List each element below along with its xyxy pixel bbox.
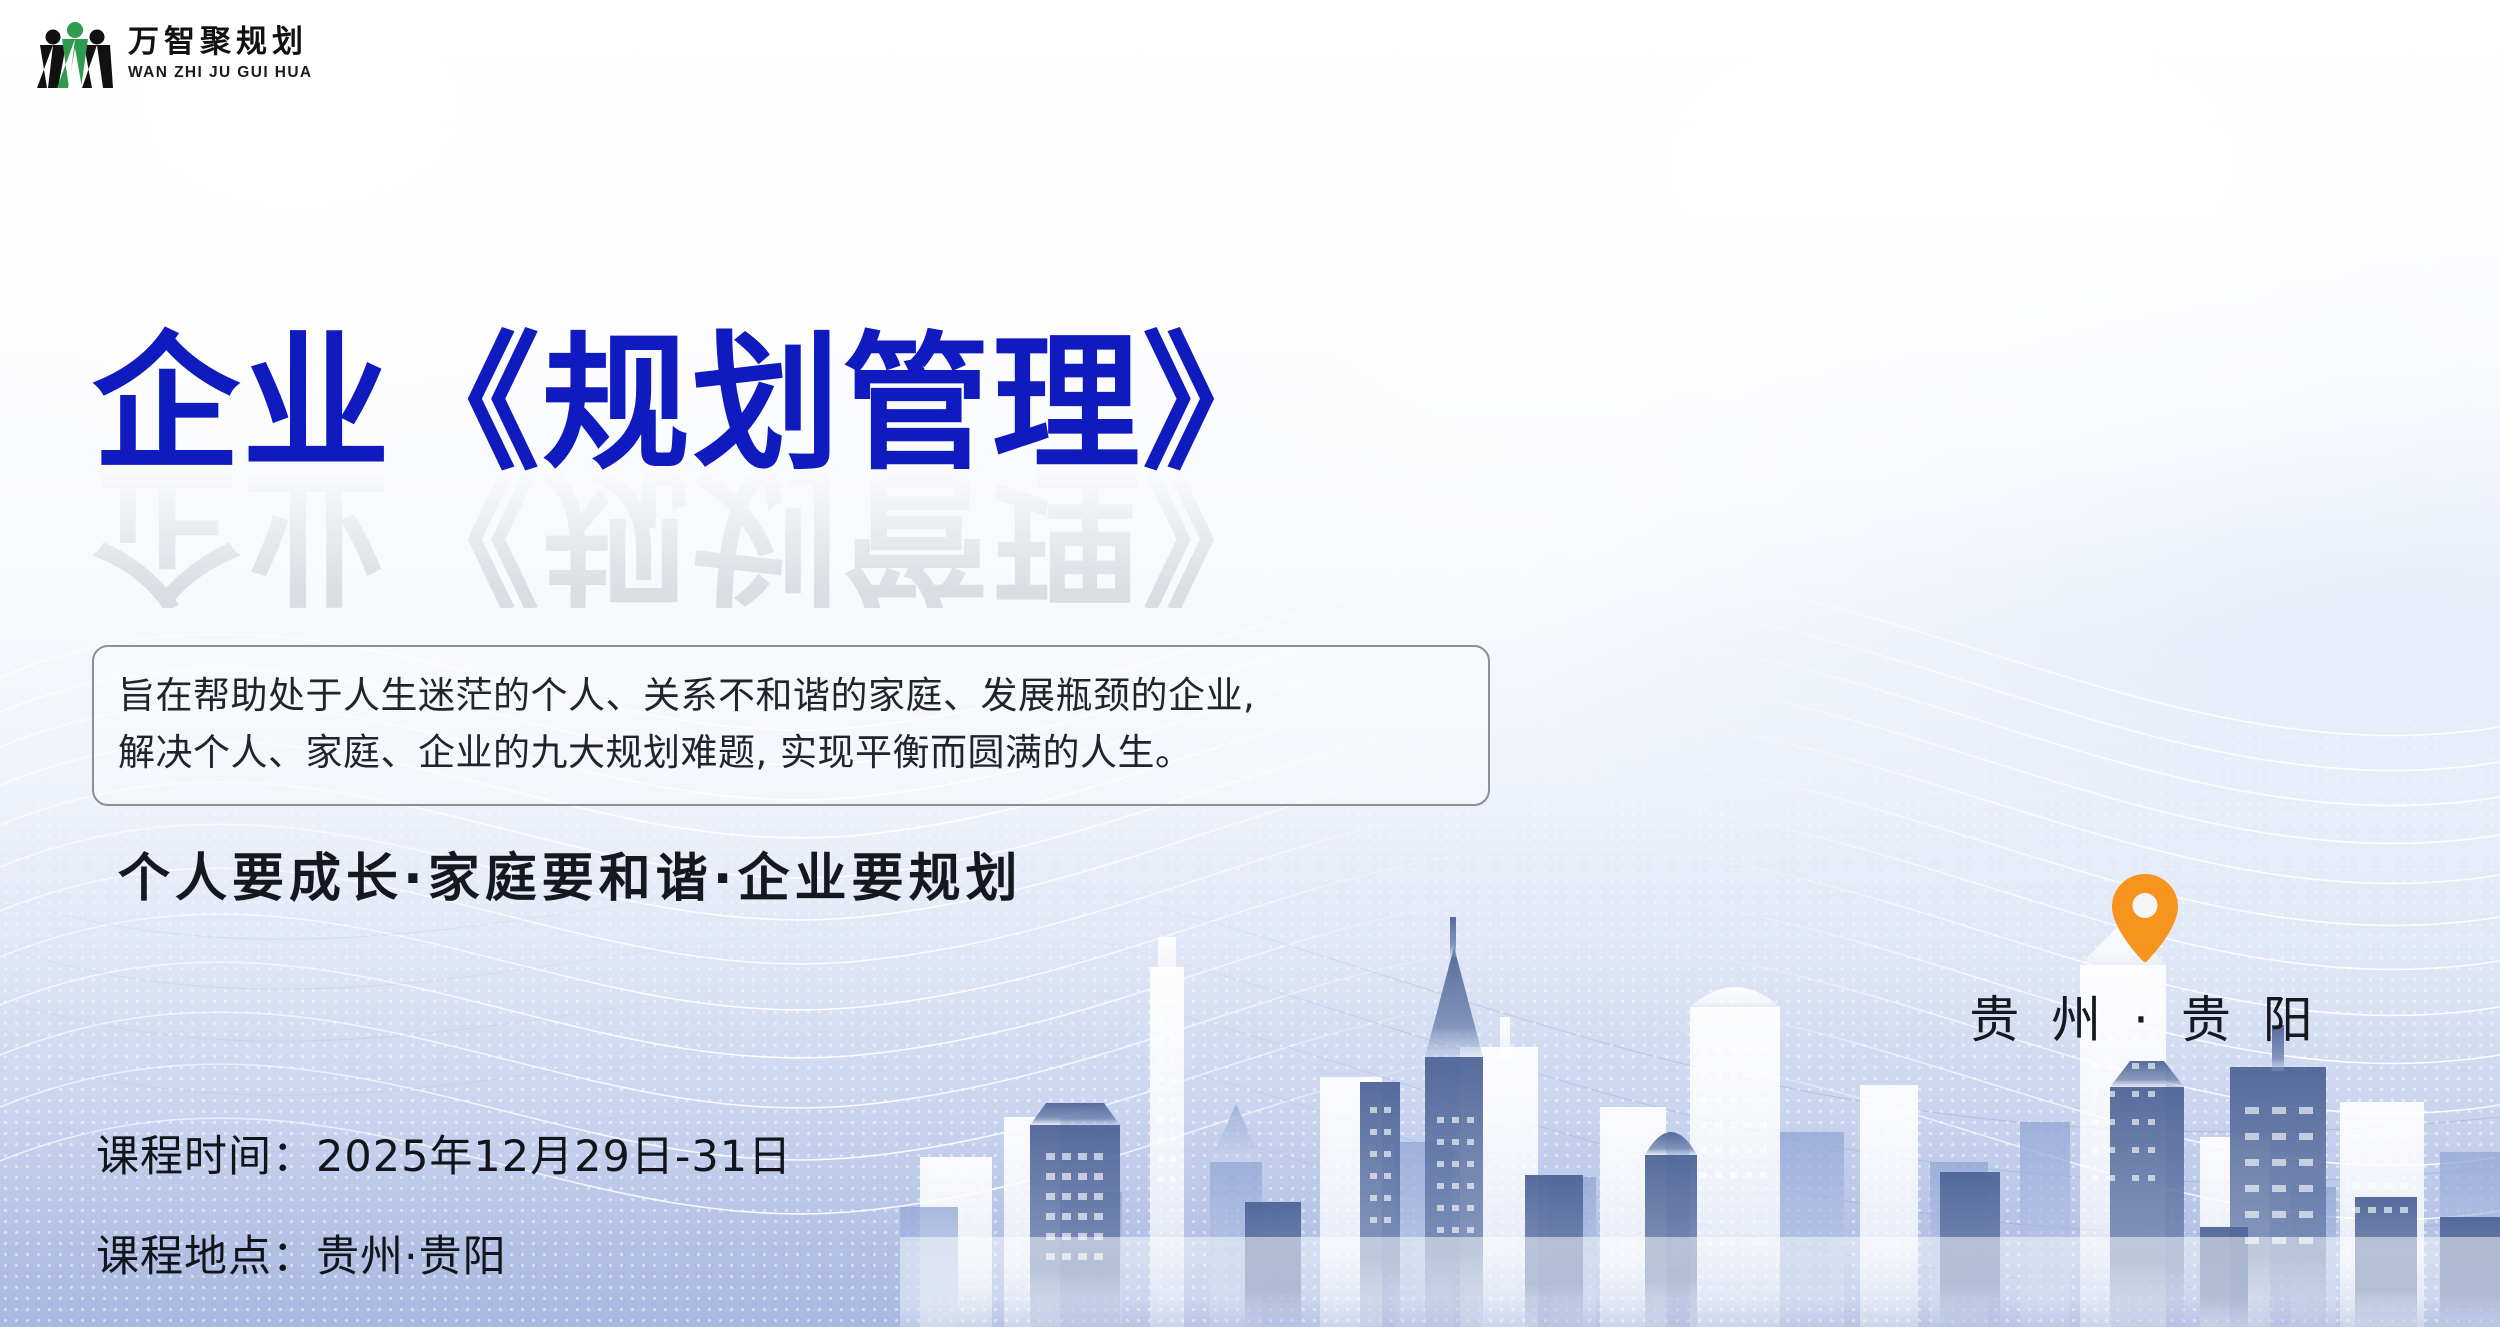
course-venue: 课程地点：贵州·贵阳: [96, 1222, 792, 1284]
brand-name-cn: 万智聚规划: [128, 27, 313, 58]
description-line-1: 旨在帮助处于人生迷茫的个人、关系不和谐的家庭、发展瓶颈的企业,: [118, 667, 1464, 724]
course-info: 课程时间：2025年12月29日-31日 课程地点：贵州·贵阳: [96, 1122, 792, 1284]
page-title: 企业《规划管理》: [92, 330, 1292, 478]
course-schedule: 课程时间：2025年12月29日-31日: [96, 1122, 792, 1184]
hero-tagline: 个人要成长·家庭要和谐·企业要规划: [118, 836, 1023, 911]
brand-name-pinyin: WAN ZHI JU GUI HUA: [128, 65, 313, 81]
brand-wordmark: 万智聚规划 WAN ZHI JU GUI HUA: [128, 27, 313, 81]
description-box: 旨在帮助处于人生迷茫的个人、关系不和谐的家庭、发展瓶颈的企业, 解决个人、家庭、…: [92, 645, 1490, 806]
three-people-logo-icon: [36, 18, 114, 90]
page-title-reflection: 企业《规划管理》: [92, 460, 1292, 608]
brand-logo: 万智聚规划 WAN ZHI JU GUI HUA: [36, 18, 313, 90]
description-line-2: 解决个人、家庭、企业的九大规划难题, 实现平衡而圆满的人生。: [118, 724, 1464, 781]
location-label: 贵 州 · 贵 阳: [1969, 980, 2320, 1052]
map-pin-icon: [2108, 872, 2182, 964]
location-block: 贵 州 · 贵 阳: [1945, 872, 2345, 1052]
hero-headline-block: 企业《规划管理》 企业《规划管理》: [92, 330, 1292, 608]
poster-canvas: 万智聚规划 WAN ZHI JU GUI HUA 企业《规划管理》 企业《规划管…: [0, 0, 2500, 1327]
